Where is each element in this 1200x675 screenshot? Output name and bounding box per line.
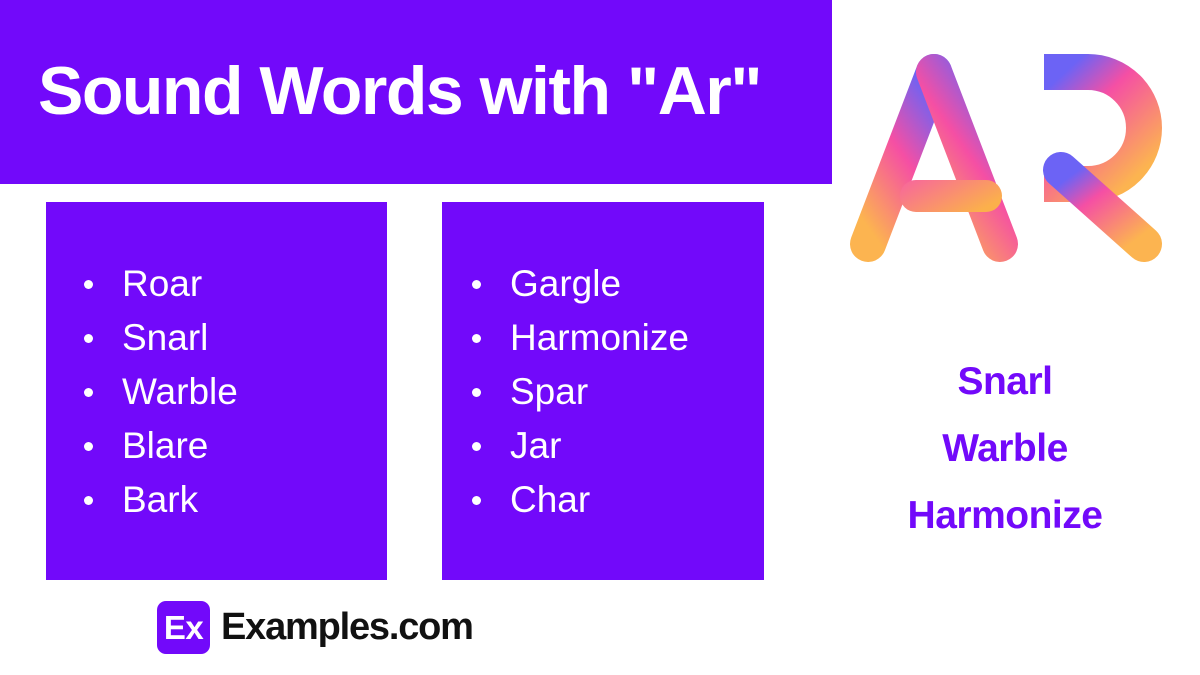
list-item: Bark (78, 473, 238, 527)
examples-mark-icon: Ex (157, 601, 210, 654)
highlight-word: Harmonize (845, 482, 1165, 549)
brand-logo[interactable]: Ex Examples.com (157, 601, 473, 654)
list-item: Roar (78, 257, 238, 311)
ar-logo-icon (848, 52, 1168, 277)
left-word-card: Roar Snarl Warble Blare Bark (46, 202, 387, 580)
list-item: Jar (466, 419, 689, 473)
right-word-list: Gargle Harmonize Spar Jar Char (466, 257, 689, 527)
left-word-list: Roar Snarl Warble Blare Bark (78, 257, 238, 527)
highlight-word-list: Snarl Warble Harmonize (845, 348, 1165, 549)
highlight-word: Warble (845, 415, 1165, 482)
page-title: Sound Words with "Ar" (38, 52, 761, 130)
list-item: Blare (78, 419, 238, 473)
list-item: Gargle (466, 257, 689, 311)
poster-canvas: Sound Words with "Ar" Roar Snarl Warble … (0, 0, 1200, 675)
list-item: Spar (466, 365, 689, 419)
list-item: Harmonize (466, 311, 689, 365)
right-word-card: Gargle Harmonize Spar Jar Char (442, 202, 764, 580)
list-item: Warble (78, 365, 238, 419)
header-banner: Sound Words with "Ar" (0, 0, 832, 184)
list-item: Char (466, 473, 689, 527)
brand-name: Examples.com (221, 601, 473, 654)
list-item: Snarl (78, 311, 238, 365)
highlight-word: Snarl (845, 348, 1165, 415)
